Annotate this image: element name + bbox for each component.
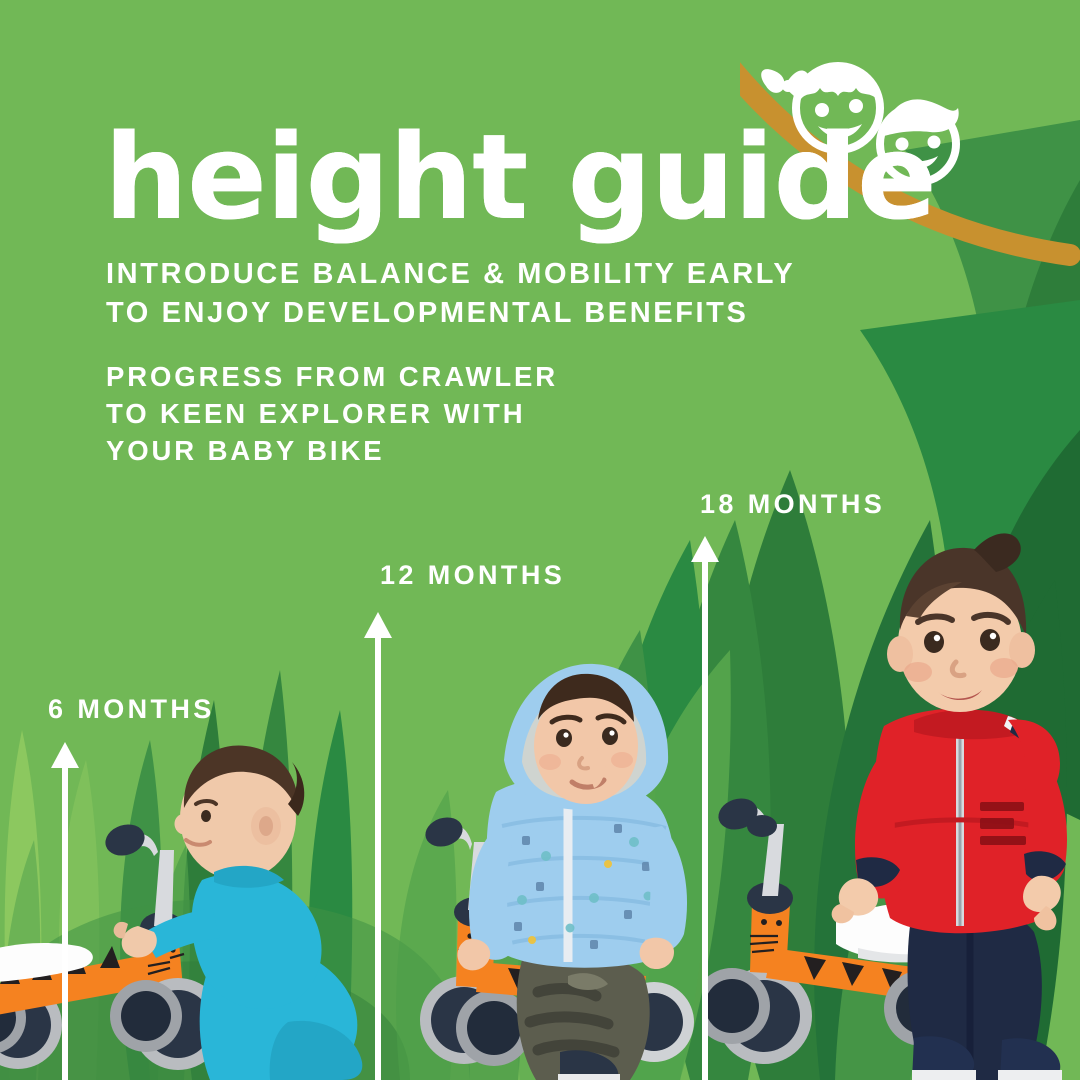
page-title: height guide: [104, 118, 936, 236]
marker-6-months-arrow: [50, 742, 80, 1080]
subhead-progress: PROGRESS FROM CRAWLER TO KEEN EXPLORER W…: [106, 358, 558, 469]
balance-bike-6m: [0, 820, 224, 1070]
marker-12-months-arrow: [363, 612, 393, 1080]
marker-18-months-label: 18 MONTHS: [700, 489, 885, 520]
marker-18-months-arrow: [690, 536, 720, 1080]
baby-figure-18m: [832, 533, 1067, 1080]
subhead-benefits: INTRODUCE BALANCE & MOBILITY EARLY TO EN…: [106, 255, 795, 332]
marker-12-months-label: 12 MONTHS: [380, 560, 565, 591]
height-guide-poster: height guide INTRODUCE BALANCE & MOBILIT…: [0, 0, 1080, 1080]
up-arrow-icon: [363, 612, 393, 1080]
photo-baby-18-months: [708, 520, 1080, 1080]
marker-6-months-label: 6 MONTHS: [48, 694, 215, 725]
up-arrow-icon: [690, 536, 720, 1080]
baby-18-months-illustration: [708, 520, 1080, 1080]
up-arrow-icon: [50, 742, 80, 1080]
